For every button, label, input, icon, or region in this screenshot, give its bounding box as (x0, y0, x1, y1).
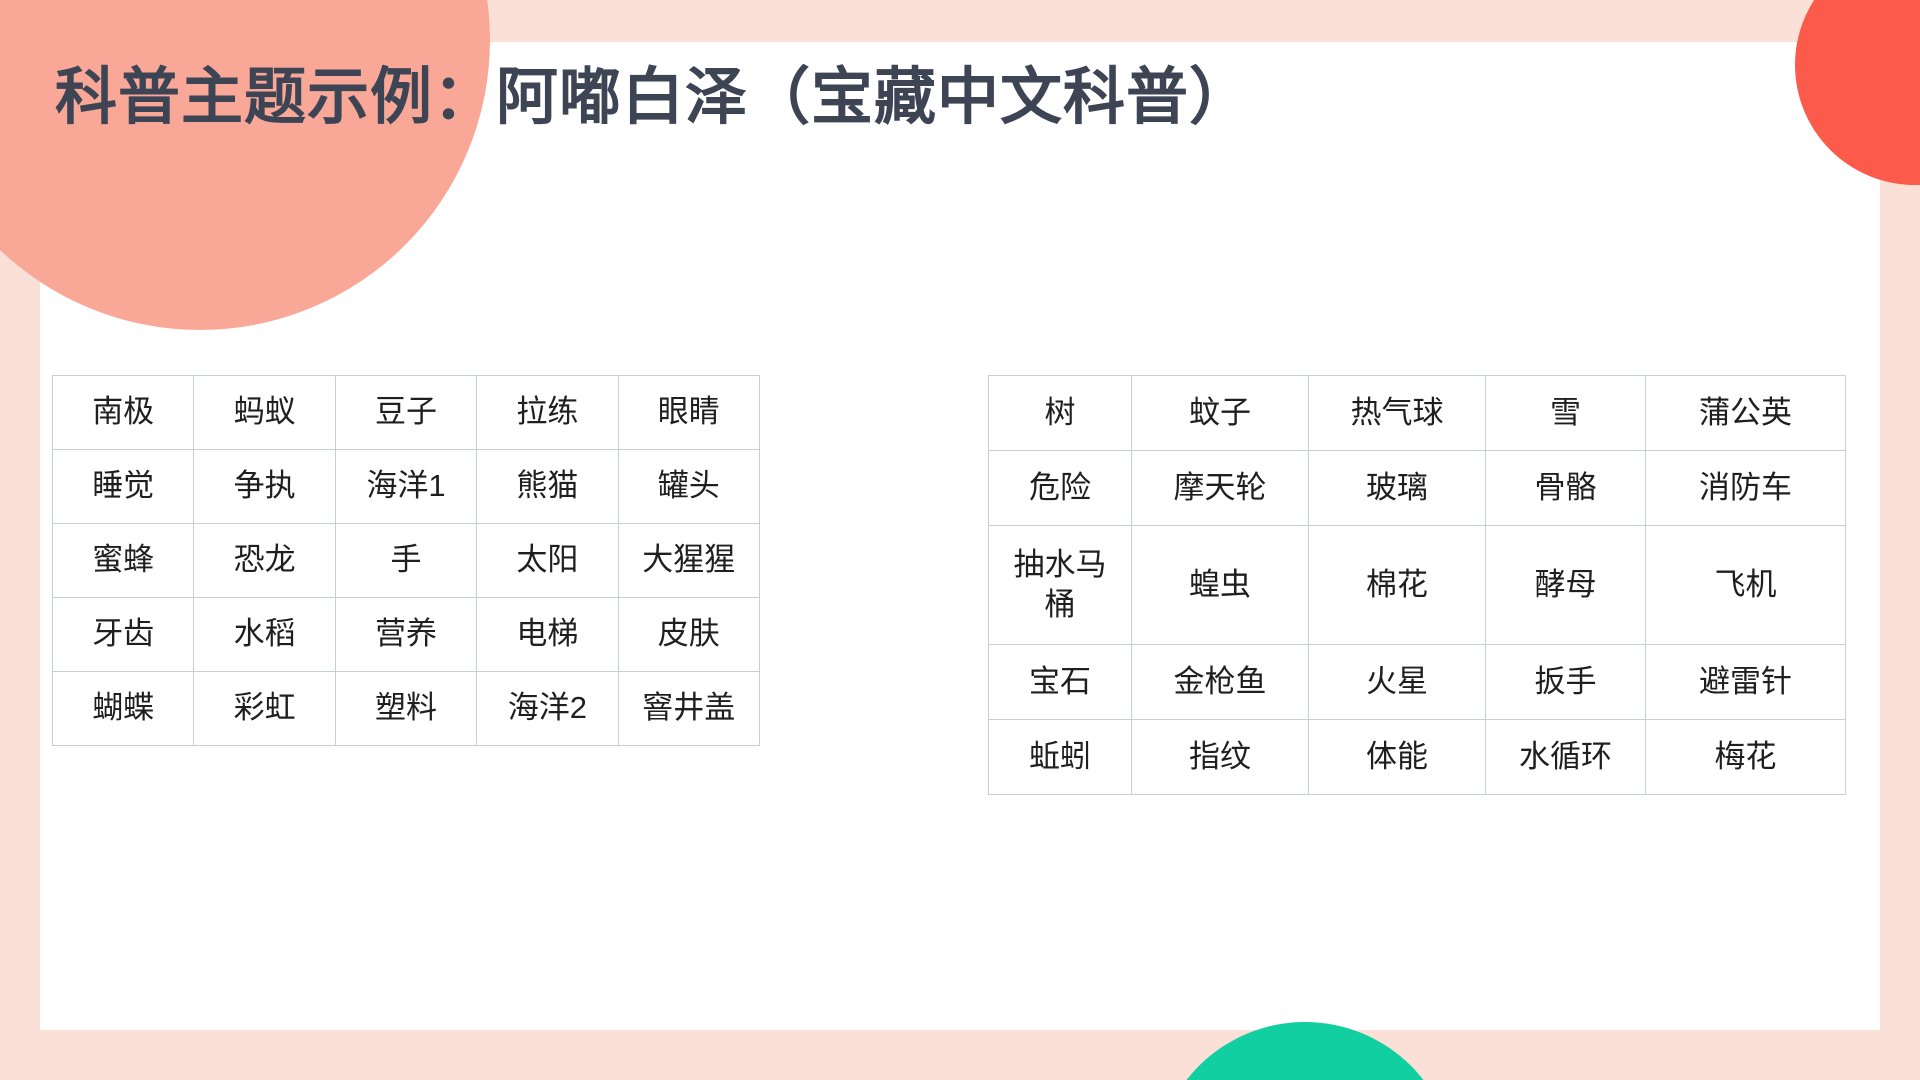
table-cell: 危险 (989, 451, 1132, 526)
table-cell: 争执 (194, 450, 335, 524)
table-cell: 指纹 (1132, 720, 1309, 795)
topic-table-left: 南极 蚂蚁 豆子 拉练 眼睛 睡觉 争执 海洋1 熊猫 罐头 蜜蜂 恐龙 手 太… (52, 375, 760, 746)
table-cell: 火星 (1309, 645, 1486, 720)
table-cell: 水稻 (194, 598, 335, 672)
table-cell: 避雷针 (1646, 645, 1846, 720)
table-cell: 飞机 (1646, 526, 1846, 645)
table-cell: 热气球 (1309, 376, 1486, 451)
table-cell: 消防车 (1646, 451, 1846, 526)
table-cell: 熊猫 (477, 450, 618, 524)
table-cell: 树 (989, 376, 1132, 451)
table-cell: 蚯蚓 (989, 720, 1132, 795)
table-cell: 金枪鱼 (1132, 645, 1309, 720)
table-row: 南极 蚂蚁 豆子 拉练 眼睛 (53, 376, 760, 450)
table-cell: 营养 (335, 598, 476, 672)
table-row: 睡觉 争执 海洋1 熊猫 罐头 (53, 450, 760, 524)
table-cell: 雪 (1486, 376, 1646, 451)
table-row: 蜜蜂 恐龙 手 太阳 大猩猩 (53, 524, 760, 598)
table-row: 蝴蝶 彩虹 塑料 海洋2 窨井盖 (53, 672, 760, 746)
table-cell: 宝石 (989, 645, 1132, 720)
table-cell: 太阳 (477, 524, 618, 598)
table-cell: 罐头 (618, 450, 759, 524)
table-cell: 拉练 (477, 376, 618, 450)
table-cell: 蒲公英 (1646, 376, 1846, 451)
decorative-circle-bottom (1155, 1022, 1455, 1080)
table-cell: 眼睛 (618, 376, 759, 450)
table-row: 危险 摩天轮 玻璃 骨骼 消防车 (989, 451, 1846, 526)
table-row: 宝石 金枪鱼 火星 扳手 避雷针 (989, 645, 1846, 720)
table-cell: 摩天轮 (1132, 451, 1309, 526)
table-cell: 蝗虫 (1132, 526, 1309, 645)
table-cell: 蚂蚁 (194, 376, 335, 450)
table-cell: 电梯 (477, 598, 618, 672)
table-cell: 牙齿 (53, 598, 194, 672)
table-cell: 梅花 (1646, 720, 1846, 795)
table-cell: 酵母 (1486, 526, 1646, 645)
page-title: 科普主题示例：阿嘟白泽（宝藏中文科普） (55, 62, 1252, 133)
table-cell: 蚊子 (1132, 376, 1309, 451)
table-cell: 大猩猩 (618, 524, 759, 598)
table-row: 牙齿 水稻 营养 电梯 皮肤 (53, 598, 760, 672)
table-cell: 手 (335, 524, 476, 598)
slide-canvas: 科普主题示例：阿嘟白泽（宝藏中文科普） 南极 蚂蚁 豆子 拉练 眼睛 睡觉 争执… (0, 0, 1920, 1080)
table-cell: 窨井盖 (618, 672, 759, 746)
table-cell: 蝴蝶 (53, 672, 194, 746)
table-cell: 棉花 (1309, 526, 1486, 645)
table-cell: 南极 (53, 376, 194, 450)
table-cell: 豆子 (335, 376, 476, 450)
table-cell: 海洋1 (335, 450, 476, 524)
table-cell: 抽水马桶 (989, 526, 1132, 645)
table-cell: 恐龙 (194, 524, 335, 598)
table-row: 抽水马桶 蝗虫 棉花 酵母 飞机 (989, 526, 1846, 645)
table-row: 蚯蚓 指纹 体能 水循环 梅花 (989, 720, 1846, 795)
table-cell: 塑料 (335, 672, 476, 746)
table-cell: 水循环 (1486, 720, 1646, 795)
topic-table-right: 树 蚊子 热气球 雪 蒲公英 危险 摩天轮 玻璃 骨骼 消防车 抽水马桶 蝗虫 … (988, 375, 1846, 795)
table-cell: 扳手 (1486, 645, 1646, 720)
table-cell: 体能 (1309, 720, 1486, 795)
table-cell: 睡觉 (53, 450, 194, 524)
table-cell: 蜜蜂 (53, 524, 194, 598)
table-cell: 玻璃 (1309, 451, 1486, 526)
table-cell: 皮肤 (618, 598, 759, 672)
table-cell: 海洋2 (477, 672, 618, 746)
table-cell: 骨骼 (1486, 451, 1646, 526)
table-cell: 彩虹 (194, 672, 335, 746)
table-row: 树 蚊子 热气球 雪 蒲公英 (989, 376, 1846, 451)
